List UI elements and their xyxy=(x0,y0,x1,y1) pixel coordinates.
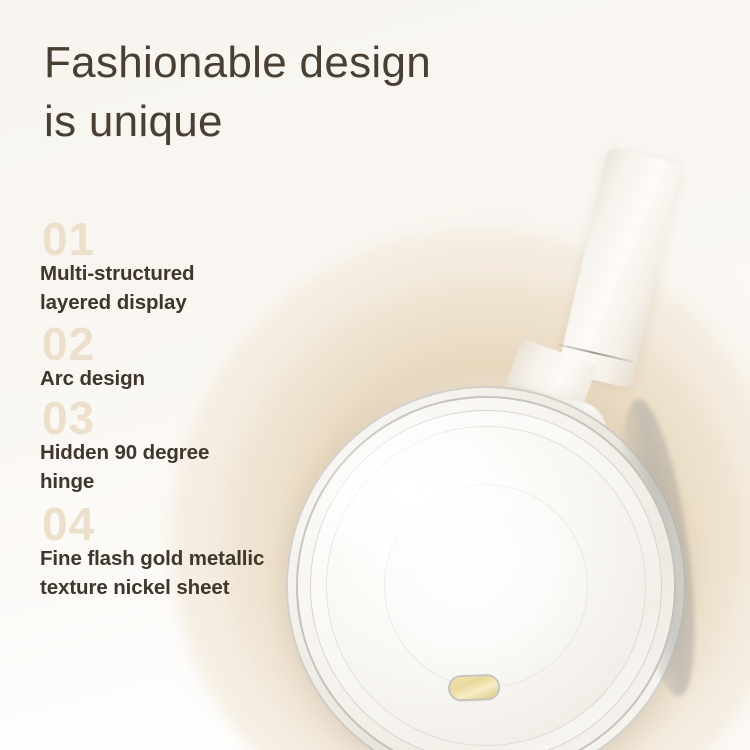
feature-item-01: 01 Multi-structured layered display xyxy=(40,222,370,317)
feature-number-01: 01 xyxy=(42,222,370,256)
feature-item-04: 04 Fine flash gold metallic texture nick… xyxy=(40,507,370,602)
feature-number-04: 04 xyxy=(42,507,370,541)
ear-cup-face-inner-disc xyxy=(371,471,601,701)
headphone-yoke xyxy=(457,378,612,526)
feature-text-04: Fine flash gold metallic texture nickel … xyxy=(40,544,370,602)
gold-metallic-badge xyxy=(450,676,499,700)
feature-text-02: Arc design xyxy=(40,364,370,393)
feature-number-03: 03 xyxy=(42,401,370,435)
feature-item-02: 02 Arc design xyxy=(40,327,370,393)
feature-list: 01 Multi-structured layered display 02 A… xyxy=(40,222,370,610)
product-feature-poster: Fashionable design is unique 01 Multi-st… xyxy=(0,0,750,750)
page-title: Fashionable design is unique xyxy=(44,34,604,151)
feature-item-03: 03 Hidden 90 degree hinge xyxy=(40,401,370,496)
gold-badge-label xyxy=(450,676,499,700)
hinge-seam-line xyxy=(557,343,633,362)
headband-arm-upper xyxy=(557,147,683,388)
feature-number-02: 02 xyxy=(42,327,370,361)
headband-arm-lower xyxy=(485,338,598,469)
ear-cushion-edge xyxy=(608,395,709,700)
feature-text-03: Hidden 90 degree hinge xyxy=(40,438,370,496)
feature-text-01: Multi-structured layered display xyxy=(40,259,370,317)
